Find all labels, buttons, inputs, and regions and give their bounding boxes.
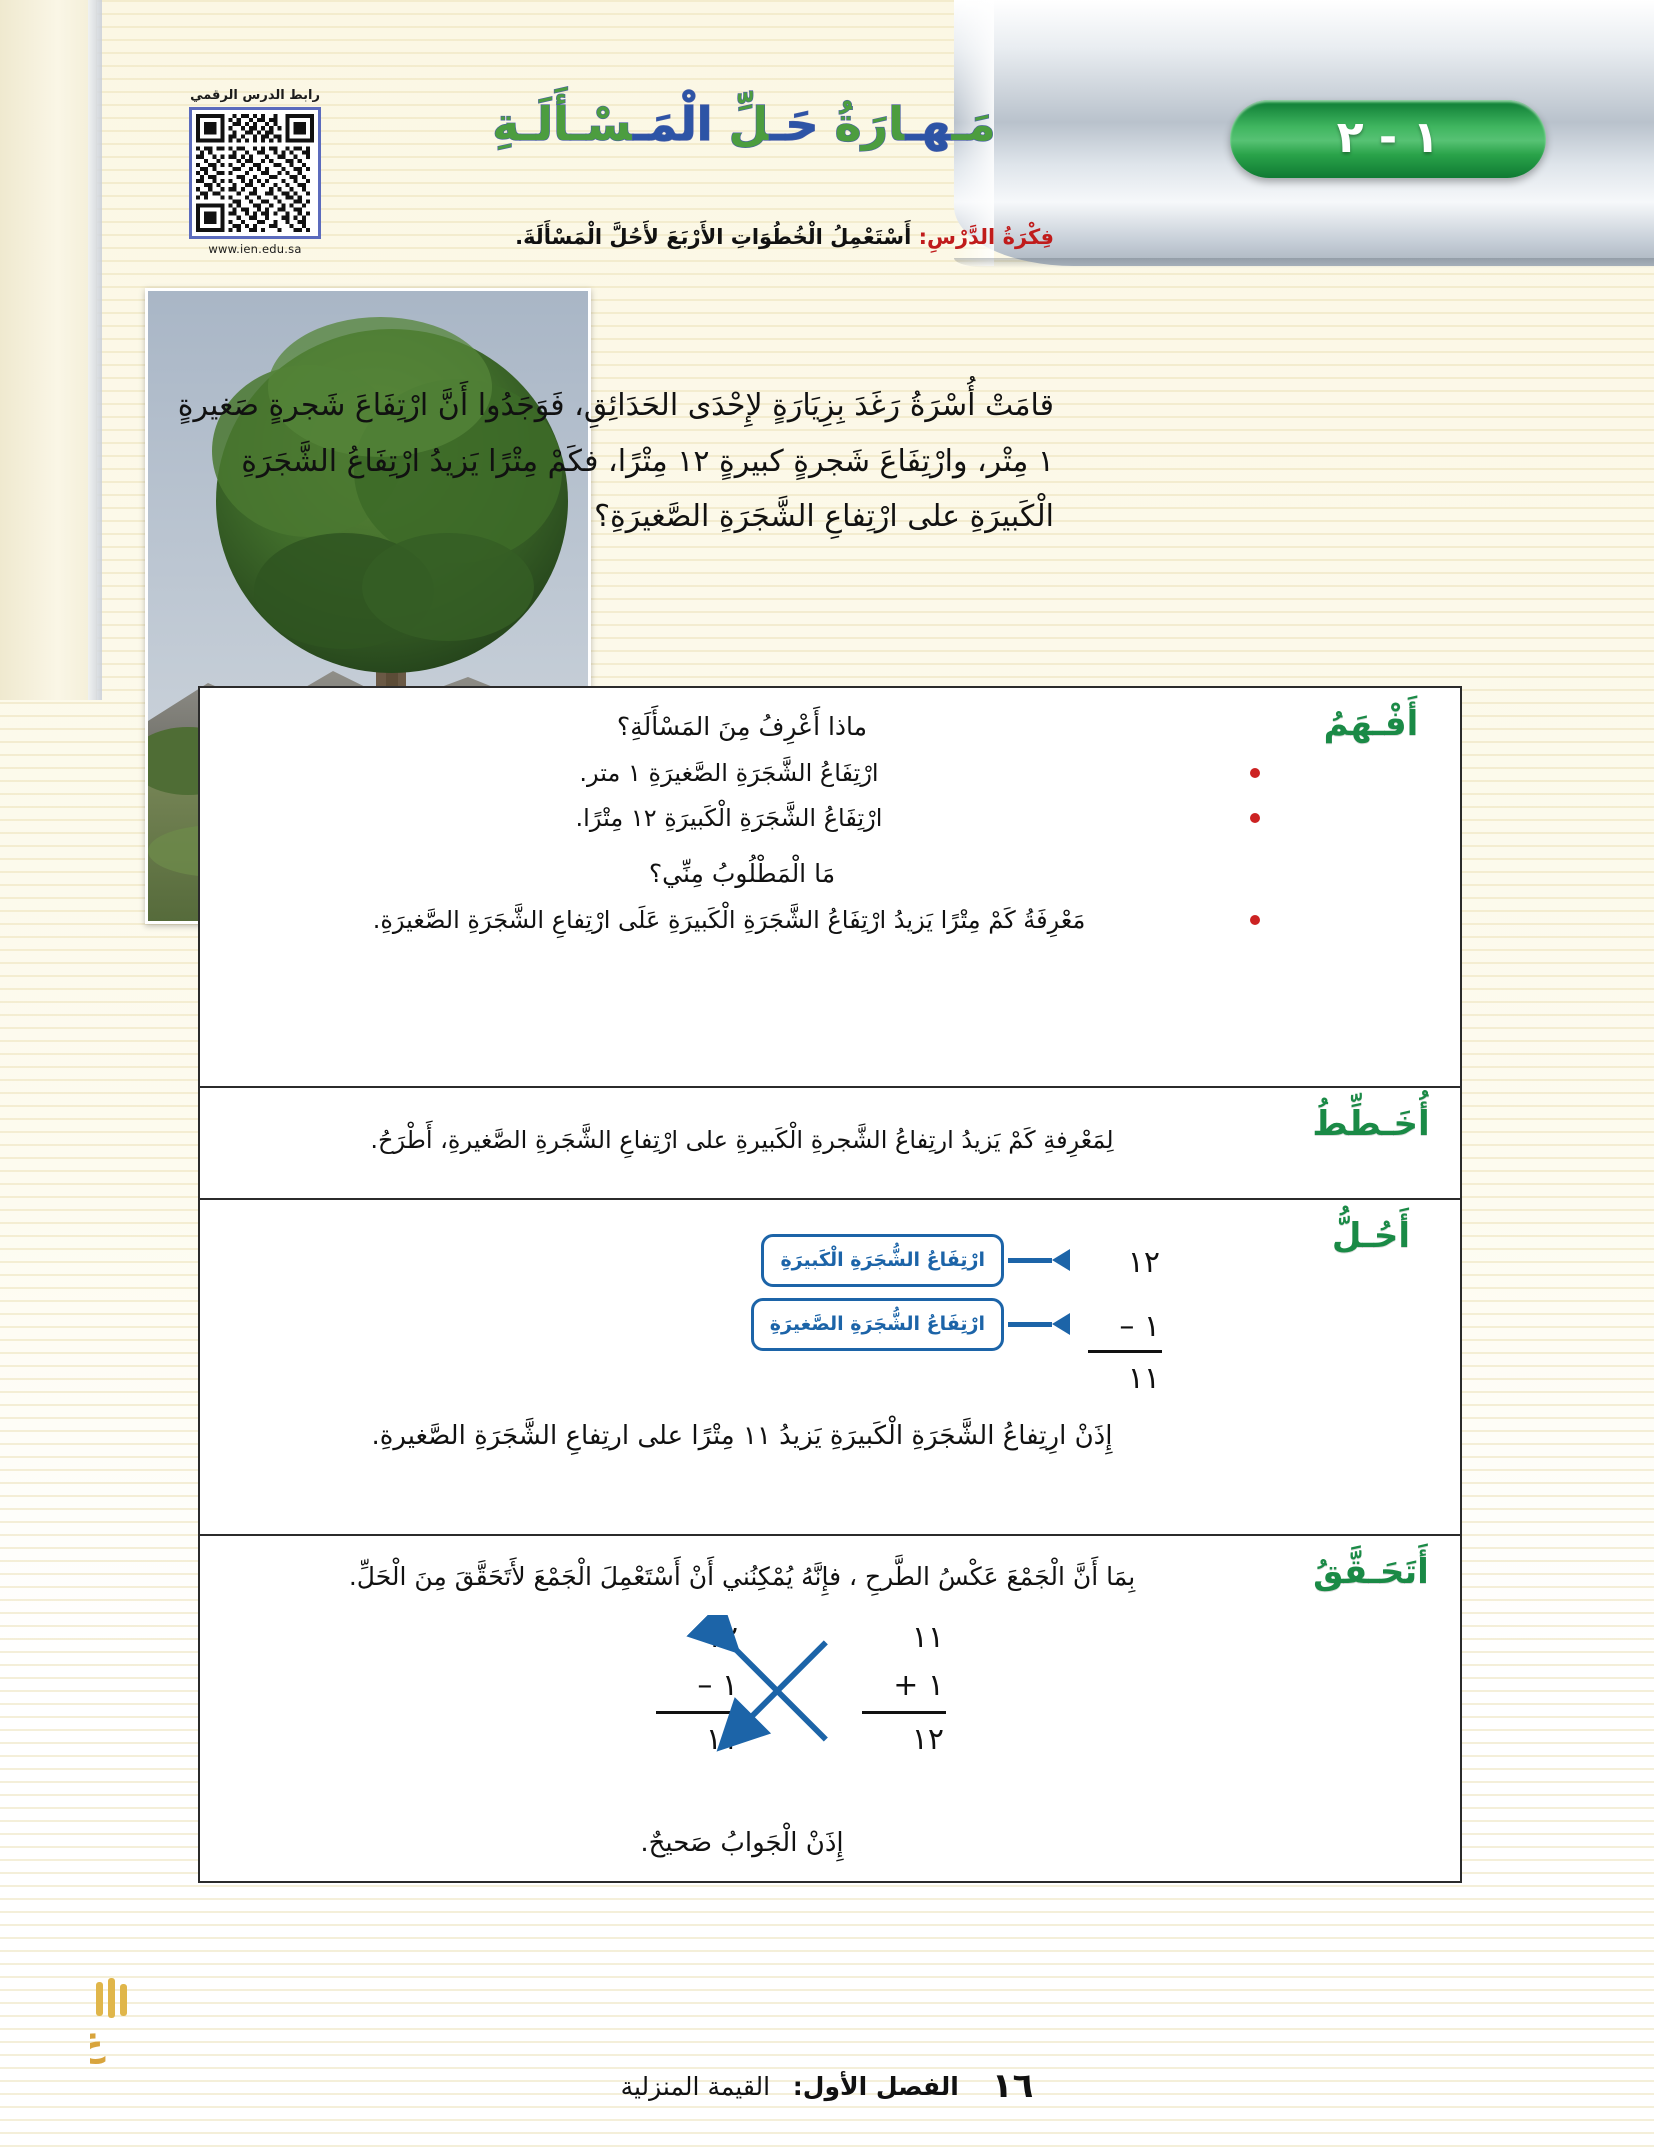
problem-statement: قامَتْ أُسْرَةُ رَغَدَ بِزِيَارَةٍ لإِحْ… [174, 378, 1054, 545]
chapter-label: الفصل الأول: [793, 2072, 959, 2101]
svg-text:ع: ع [90, 2018, 106, 2064]
check-final-statement: إِذَنْ الْجَوابُ صَحيحٌ. [218, 1823, 1266, 1863]
digital-lesson-link[interactable]: رابط الدرس الرقمي [186, 88, 324, 256]
left-page-edge [0, 0, 97, 700]
qr-label: رابط الدرس الرقمي [186, 88, 324, 103]
page-title: مَـهـارَةُ حَـلِّ الْمَـسْـأَلَـةِ [424, 96, 1064, 154]
page-footer: ١٦ الفصل الأول: القيمة المنزلية [0, 2066, 1654, 2106]
chapter-info: الفصل الأول: القيمة المنزلية [621, 2072, 959, 2101]
list-item: ارْتِفَاعُ الشَّجَرَةِ الصَّغيرَةِ ١ متر… [218, 755, 1266, 792]
title-part-3: ارَةُ [835, 97, 906, 151]
check-left-result: ١١ [658, 1717, 738, 1764]
header-metal-banner-shadow [954, 258, 1654, 268]
understand-required-list: مَعْرِفَةُ كَمْ مِتْرًا يَزيدُ ارْتِفَاع… [218, 902, 1266, 939]
check-left-operator: – [697, 1668, 712, 1703]
qr-code-icon [196, 114, 314, 232]
check-right-top: ١١ [864, 1615, 944, 1662]
check-left-operand: ١ [722, 1668, 738, 1703]
lesson-idea-line: فِكْرَةُ الدَّرْسِ: أَسْتَعْمِلُ الْخُطُ… [354, 222, 1054, 254]
step-understand-body: ماذا أَعْرِفُ مِنَ المَسْأَلَةِ؟ ارْتِفَ… [200, 688, 1284, 965]
step-understand: أَفْـهَمُ ماذا أَعْرِفُ مِنَ المَسْأَلَة… [200, 688, 1460, 1088]
understand-known-list: ارْتِفَاعُ الشَّجَرَةِ الصَّغيرَةِ ١ متر… [218, 755, 1266, 837]
tag-big-tree-height: ارْتِفَاعُ الشُّجَرَةِ الْكَبيرَةِ [761, 1234, 1004, 1287]
check-right-operation: + ١ [864, 1663, 944, 1710]
check-left-top: ١٢ [658, 1615, 738, 1662]
solve-rule-line [1088, 1350, 1162, 1353]
step-check: أَتَحَـقَّقُ بِمَا أَنَّ الْجَمْعَ عَكْس… [200, 1536, 1460, 1881]
solve-operator: – [1119, 1309, 1134, 1344]
qr-code-frame[interactable] [189, 107, 321, 239]
tag-small-tree-height: ارْتِفَاعُ الشُّجَرَةِ الصَّغيرَةِ [751, 1298, 1004, 1351]
title-part-7: سْـأَلَـةِ [492, 97, 633, 151]
left-page-edge-shadow [88, 0, 102, 700]
step-solve-body: ارْتِفَاعُ الشُّجَرَةِ الْكَبيرَةِ ارْتِ… [200, 1200, 1284, 1534]
check-right-operator: + [893, 1668, 918, 1703]
step-understand-label: أَفْـهَمُ [1296, 704, 1446, 744]
cross-arrows-icon [218, 1615, 1266, 1805]
title-part-2: هـ [905, 97, 951, 151]
solve-conclusion: إِذَنْ ارِتِفاعُ الشَّجَرَةِ الْكَبيرَةِ… [218, 1416, 1266, 1456]
step-solve: أَحُـلُّ ارْتِفَاعُ الشُّجَرَةِ الْكَبير… [200, 1200, 1460, 1536]
check-explanation: بِمَا أَنَّ الْجَمْعَ عَكْسُ الطَّرحِ ، … [218, 1558, 1266, 1597]
lesson-number-text: ١ - ٢ [1337, 112, 1440, 163]
step-plan-body: لِمَعْرِفةِ كَمْ يَزيدُ ارتِفاعُ الشَّجر… [200, 1088, 1284, 1177]
qr-url-text: www.ien.edu.sa [186, 242, 324, 256]
step-plan: أُخَـطِّطُ لِمَعْرِفةِ كَمْ يَزيدُ ارتِف… [200, 1088, 1460, 1200]
check-diagram: ١٢ – ١ ١١ ١١ + ١ ١٢ [218, 1615, 1266, 1805]
subtraction-diagram: ارْتِفَاعُ الشُّجَرَةِ الْكَبيرَةِ ارْتِ… [218, 1216, 1266, 1406]
check-right-operand: ١ [928, 1668, 944, 1703]
lesson-idea-text: أَسْتَعْمِلُ الْخُطُوَاتِ الأَرْبَعَ لأَ… [515, 225, 911, 249]
title-part-4: حَـ [770, 97, 835, 151]
solve-operand-bottom-value: ١ [1144, 1309, 1160, 1344]
title-part-1: مَـ [952, 97, 996, 151]
page-number: ١٦ [992, 2066, 1034, 2106]
check-left-operation: – ١ [658, 1663, 738, 1710]
lesson-idea-label: فِكْرَةُ الدَّرْسِ: [919, 225, 1054, 249]
step-check-label: أَتَحَـقَّقُ [1296, 1552, 1446, 1592]
solve-operand-top: ١٢ [1090, 1240, 1160, 1287]
check-right-rule [862, 1711, 946, 1714]
step-check-body: بِمَا أَنَّ الْجَمْعَ عَكْسُ الطَّرحِ ، … [200, 1536, 1284, 1881]
step-solve-label: أَحُـلُّ [1296, 1216, 1446, 1256]
chapter-title: القيمة المنزلية [621, 2072, 770, 2101]
solve-operand-bottom: – ١ [1090, 1304, 1160, 1351]
title-part-5: لِّ [729, 97, 770, 151]
solve-result: ١١ [1090, 1356, 1160, 1403]
check-left-rule [656, 1711, 740, 1714]
check-right-result: ١٢ [864, 1717, 944, 1764]
step-plan-label: أُخَـطِّطُ [1296, 1104, 1446, 1144]
lesson-number-badge: ١ - ٢ [1230, 100, 1546, 178]
understand-question-1: ماذا أَعْرِفُ مِنَ المَسْأَلَةِ؟ [218, 708, 1266, 747]
list-item: مَعْرِفَةُ كَمْ مِتْرًا يَزيدُ ارْتِفَاع… [218, 902, 1266, 939]
list-item: ارْتِفَاعُ الشَّجَرَةِ الْكَبيرَةِ ١٢ مِ… [218, 800, 1266, 837]
publisher-logo: ع [90, 1978, 152, 2064]
understand-question-2: مَا الْمَطْلُوبُ مِنِّي؟ [218, 855, 1266, 894]
title-part-6: الْمَـ [633, 97, 729, 151]
four-steps-table: أَفْـهَمُ ماذا أَعْرِفُ مِنَ المَسْأَلَة… [198, 686, 1462, 1883]
plan-text: لِمَعْرِفةِ كَمْ يَزيدُ ارتِفاعُ الشَّجر… [218, 1122, 1266, 1159]
